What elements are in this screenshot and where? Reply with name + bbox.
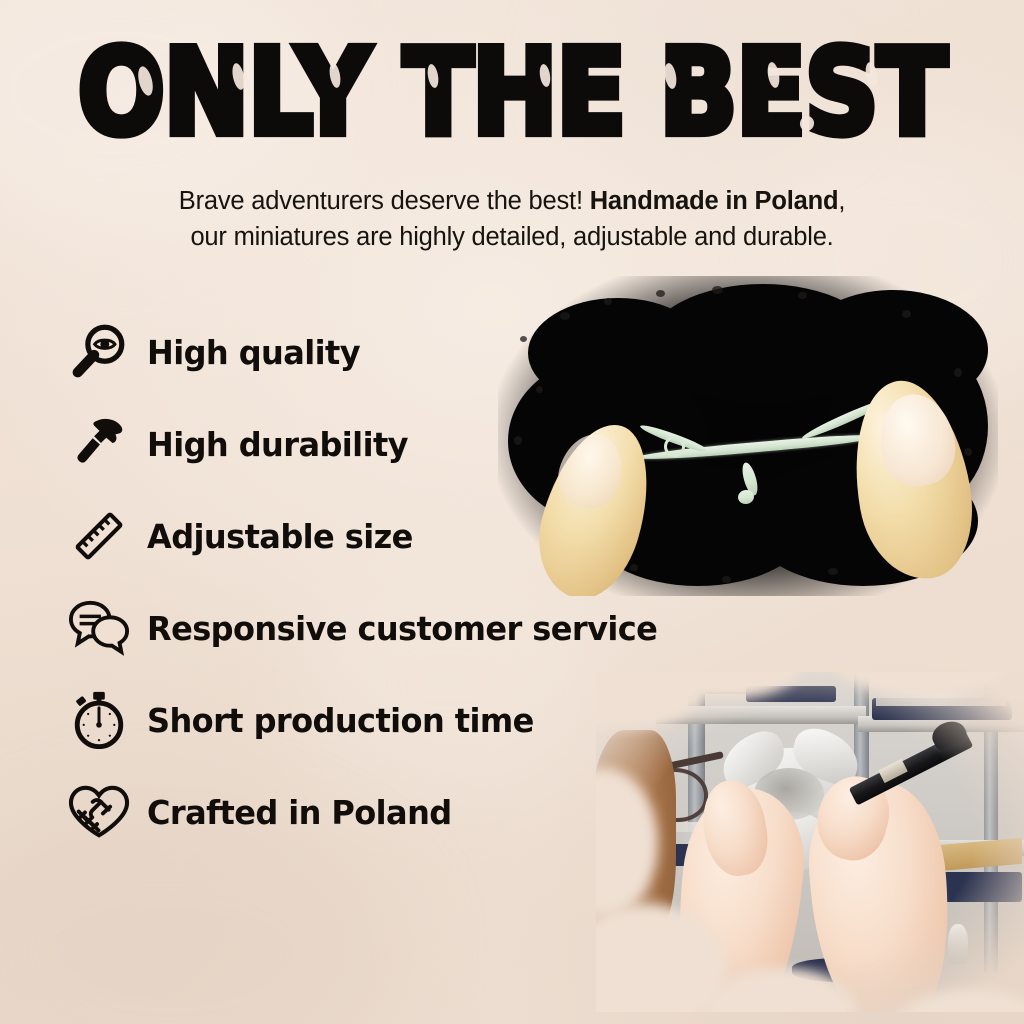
torn-edge-speck <box>520 336 527 342</box>
torn-edge-speck <box>560 312 570 320</box>
ruler-icon <box>62 499 136 573</box>
torn-edge-speck <box>902 310 911 318</box>
magnifier-eye-icon <box>62 315 136 389</box>
torn-edge-speck <box>712 286 723 294</box>
torn-edge-speck <box>536 386 543 393</box>
headline: ONLY THE BEST <box>0 34 1024 152</box>
feature-label: Responsive customer service <box>147 609 657 648</box>
torn-edge-speck <box>656 290 665 297</box>
torn-edge-speck <box>828 568 838 575</box>
subtitle: Brave adventurers deserve the best! Hand… <box>64 183 960 255</box>
stopwatch-icon <box>62 683 136 757</box>
torn-edge-speck <box>964 448 972 456</box>
feature-label: High durability <box>147 425 408 464</box>
torn-edge-speck <box>722 576 731 583</box>
speech-bubbles-icon <box>62 591 136 665</box>
torn-edge-speck <box>514 436 522 445</box>
miniature-part-ring <box>664 436 685 457</box>
feature-label: Short production time <box>147 701 534 740</box>
promo-graphic: ONLY THE BEST Brave adventurers deserve … <box>0 0 1024 1024</box>
feature-label: Crafted in Poland <box>147 793 452 832</box>
subtitle-tail: , <box>838 187 845 215</box>
torn-edge-speck <box>604 298 612 305</box>
subtitle-bold: Handmade in Poland <box>590 187 839 215</box>
heart-handshake-icon <box>62 775 136 849</box>
flexible-miniature-photo <box>498 276 998 596</box>
feature-label: High quality <box>147 333 360 372</box>
torn-edge-speck <box>630 564 638 571</box>
feature-label: Adjustable size <box>147 517 413 556</box>
hammer-icon <box>62 407 136 481</box>
workshop-painting-photo <box>596 672 1024 1012</box>
small-miniature <box>948 924 968 964</box>
torn-edge-speck <box>798 292 807 299</box>
torn-edge-speck <box>954 368 962 377</box>
subtitle-line2: our miniatures are highly detailed, adju… <box>190 223 833 251</box>
subtitle-lead: Brave adventurers deserve the best! <box>179 187 590 215</box>
